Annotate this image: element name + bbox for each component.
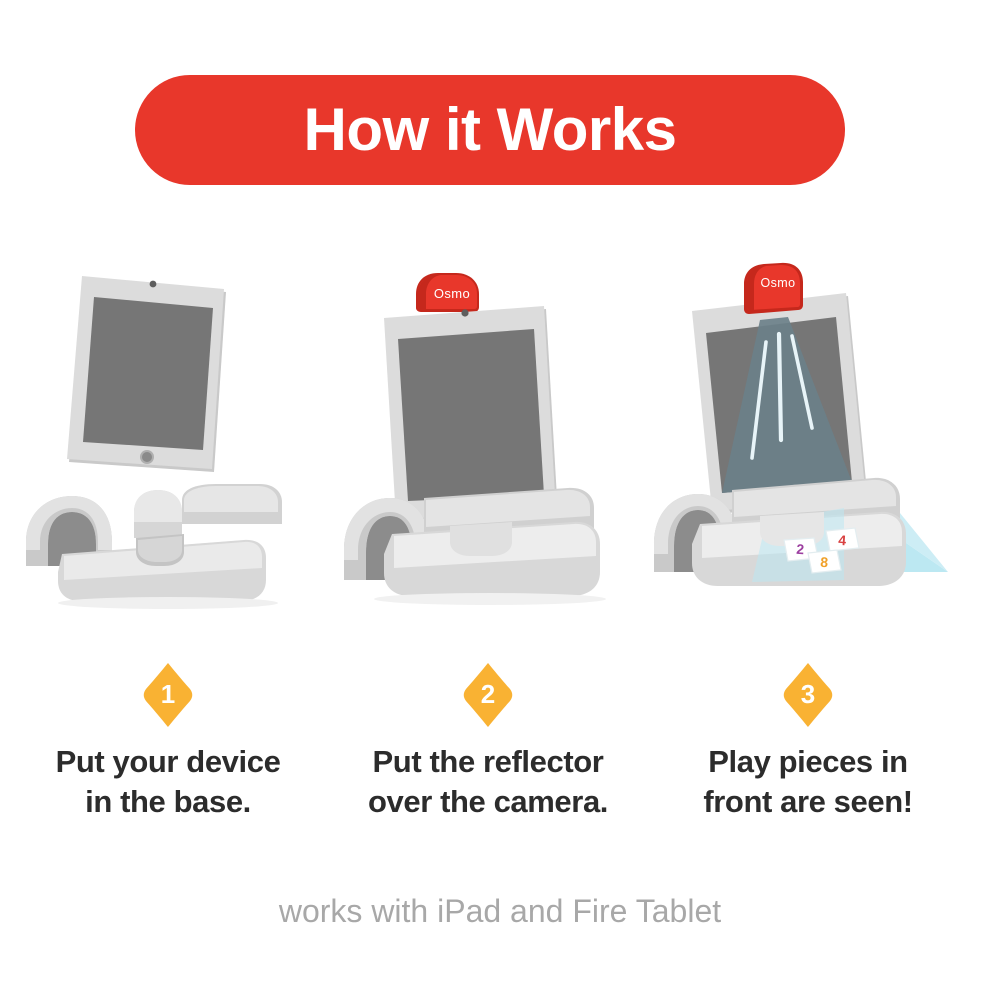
tablet-icon [67, 276, 226, 472]
step-badge-2: 2 [461, 662, 515, 728]
step-1: 1 Put your device in the base. [8, 250, 328, 850]
step-caption-1-line1: Put your device [56, 744, 281, 779]
page-title: How it Works [304, 100, 677, 160]
reflector-logo-text: Osmo [434, 286, 470, 301]
base-stand-icon [654, 478, 906, 586]
step-badge-1: 1 [141, 662, 195, 728]
steps-container: 1 Put your device in the base. Osmo [0, 250, 1000, 850]
reflector-icon: Osmo [416, 273, 479, 312]
svg-text:2: 2 [796, 541, 805, 558]
step-caption-1: Put your device in the base. [8, 742, 328, 821]
step-caption-1-line2: in the base. [8, 782, 328, 822]
tablet-icon [384, 306, 558, 522]
step-badge-wrap-3: 3 [648, 660, 968, 730]
step-3: Osmo [648, 250, 968, 850]
step-number-2: 2 [481, 681, 495, 707]
step-badge-wrap-2: 2 [328, 660, 648, 730]
step-caption-3-line1: Play pieces in [708, 744, 907, 779]
play-piece-4: 4 [826, 528, 859, 551]
play-piece-8: 8 [808, 550, 841, 573]
step-caption-3-line2: front are seen! [648, 782, 968, 822]
step-number-1: 1 [161, 681, 175, 707]
illustration-tablet-above-base [8, 250, 328, 610]
base-stand-icon [344, 488, 606, 605]
step-badge-wrap-1: 1 [8, 660, 328, 730]
reflector-logo-text: Osmo [761, 276, 796, 290]
step-number-3: 3 [801, 681, 815, 707]
svg-text:4: 4 [838, 532, 847, 549]
illustration-tablet-with-beam: Osmo [648, 250, 968, 610]
step-caption-3: Play pieces in front are seen! [648, 742, 968, 821]
step-caption-2: Put the reflector over the camera. [328, 742, 648, 821]
footer-compatibility-note: works with iPad and Fire Tablet [0, 893, 1000, 930]
header-banner: How it Works [135, 75, 845, 185]
base-stand-icon [26, 484, 282, 609]
step-caption-2-line1: Put the reflector [373, 744, 604, 779]
step-badge-3: 3 [781, 662, 835, 728]
svg-text:8: 8 [820, 554, 829, 571]
step-caption-2-line2: over the camera. [328, 782, 648, 822]
step-2: Osmo [328, 250, 648, 850]
reflector-icon: Osmo [744, 263, 803, 314]
illustration-tablet-in-base-with-reflector: Osmo [328, 250, 648, 610]
